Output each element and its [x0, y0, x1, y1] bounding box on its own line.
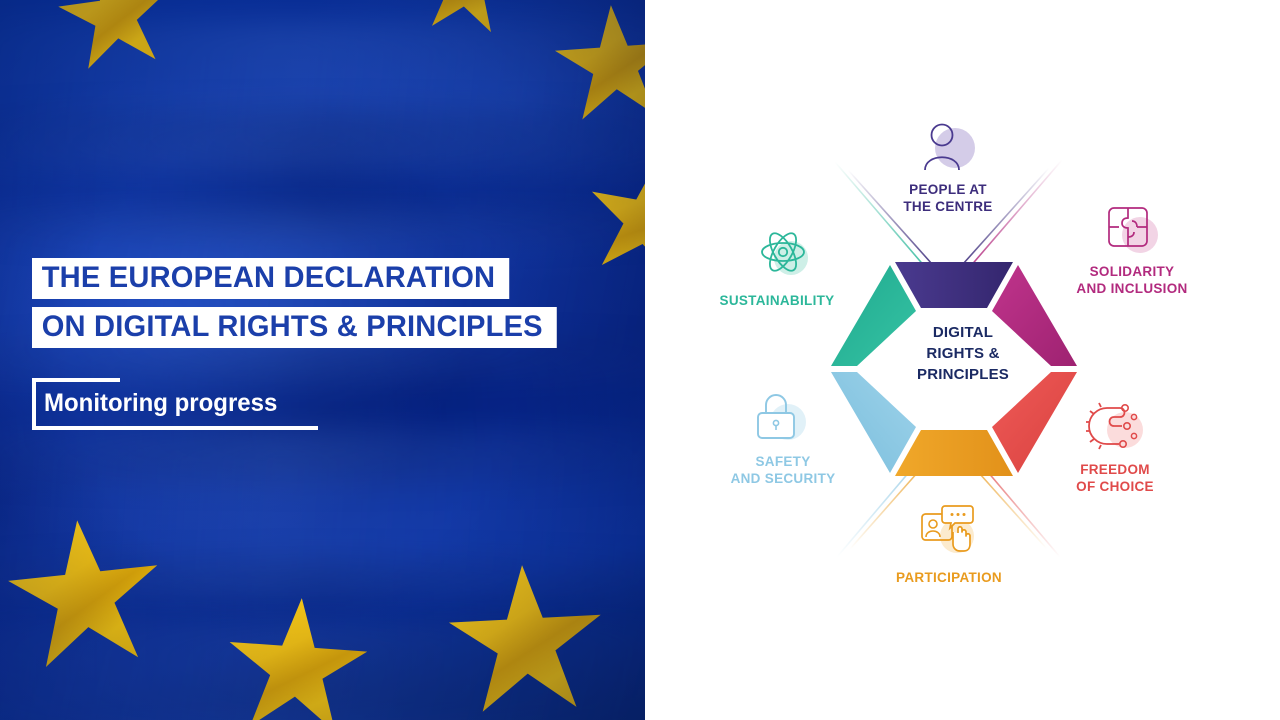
- lock-icon: [750, 390, 812, 446]
- subtitle-text: Monitoring progress: [44, 383, 277, 423]
- person-icon: [917, 118, 979, 174]
- flag-vignette: [0, 0, 645, 720]
- segment-people-at-the-centre: [895, 262, 1013, 308]
- subtitle-rule-bottom: [32, 426, 318, 430]
- node-label-safety-and-security: SAFETY AND SECURITY: [688, 454, 878, 487]
- title-line-2: ON DIGITAL RIGHTS & PRINCIPLES: [32, 307, 556, 348]
- node-label-sustainability: SUSTAINABILITY: [682, 293, 872, 310]
- subtitle-rule-left: [32, 378, 36, 430]
- atom-icon: [755, 226, 817, 282]
- title-line-1: THE EUROPEAN DECLARATION: [32, 258, 509, 299]
- page-title: THE EUROPEAN DECLARATION ON DIGITAL RIGH…: [32, 258, 632, 348]
- node-label-solidarity-and-inclusion: SOLIDARITY AND INCLUSION: [1037, 264, 1227, 297]
- node-label-freedom-of-choice: FREEDOM OF CHOICE: [1020, 462, 1210, 495]
- puzzle-icon: [1100, 202, 1162, 258]
- node-label-people-at-the-centre: PEOPLE AT THE CENTRE: [853, 182, 1043, 215]
- subtitle-rule-top: [32, 378, 120, 382]
- subtitle-frame: Monitoring progress: [32, 378, 318, 430]
- gear-circuit-icon: [1085, 398, 1147, 454]
- segment-freedom-of-choice: [992, 372, 1077, 473]
- segment-participation: [895, 430, 1013, 476]
- node-label-participation: PARTICIPATION: [854, 570, 1044, 587]
- diagram-center-label: DIGITAL RIGHTS & PRINCIPLES: [893, 322, 1033, 385]
- hexagon-diagram: PEOPLE AT THE CENTRE SOLIDARITY AND INCL…: [645, 0, 1280, 720]
- eu-flag-background: THE EUROPEAN DECLARATION ON DIGITAL RIGH…: [0, 0, 645, 720]
- diagram-panel: PEOPLE AT THE CENTRE SOLIDARITY AND INCL…: [645, 0, 1280, 720]
- slide-canvas: THE EUROPEAN DECLARATION ON DIGITAL RIGH…: [0, 0, 1280, 720]
- participation-icon: [917, 502, 979, 558]
